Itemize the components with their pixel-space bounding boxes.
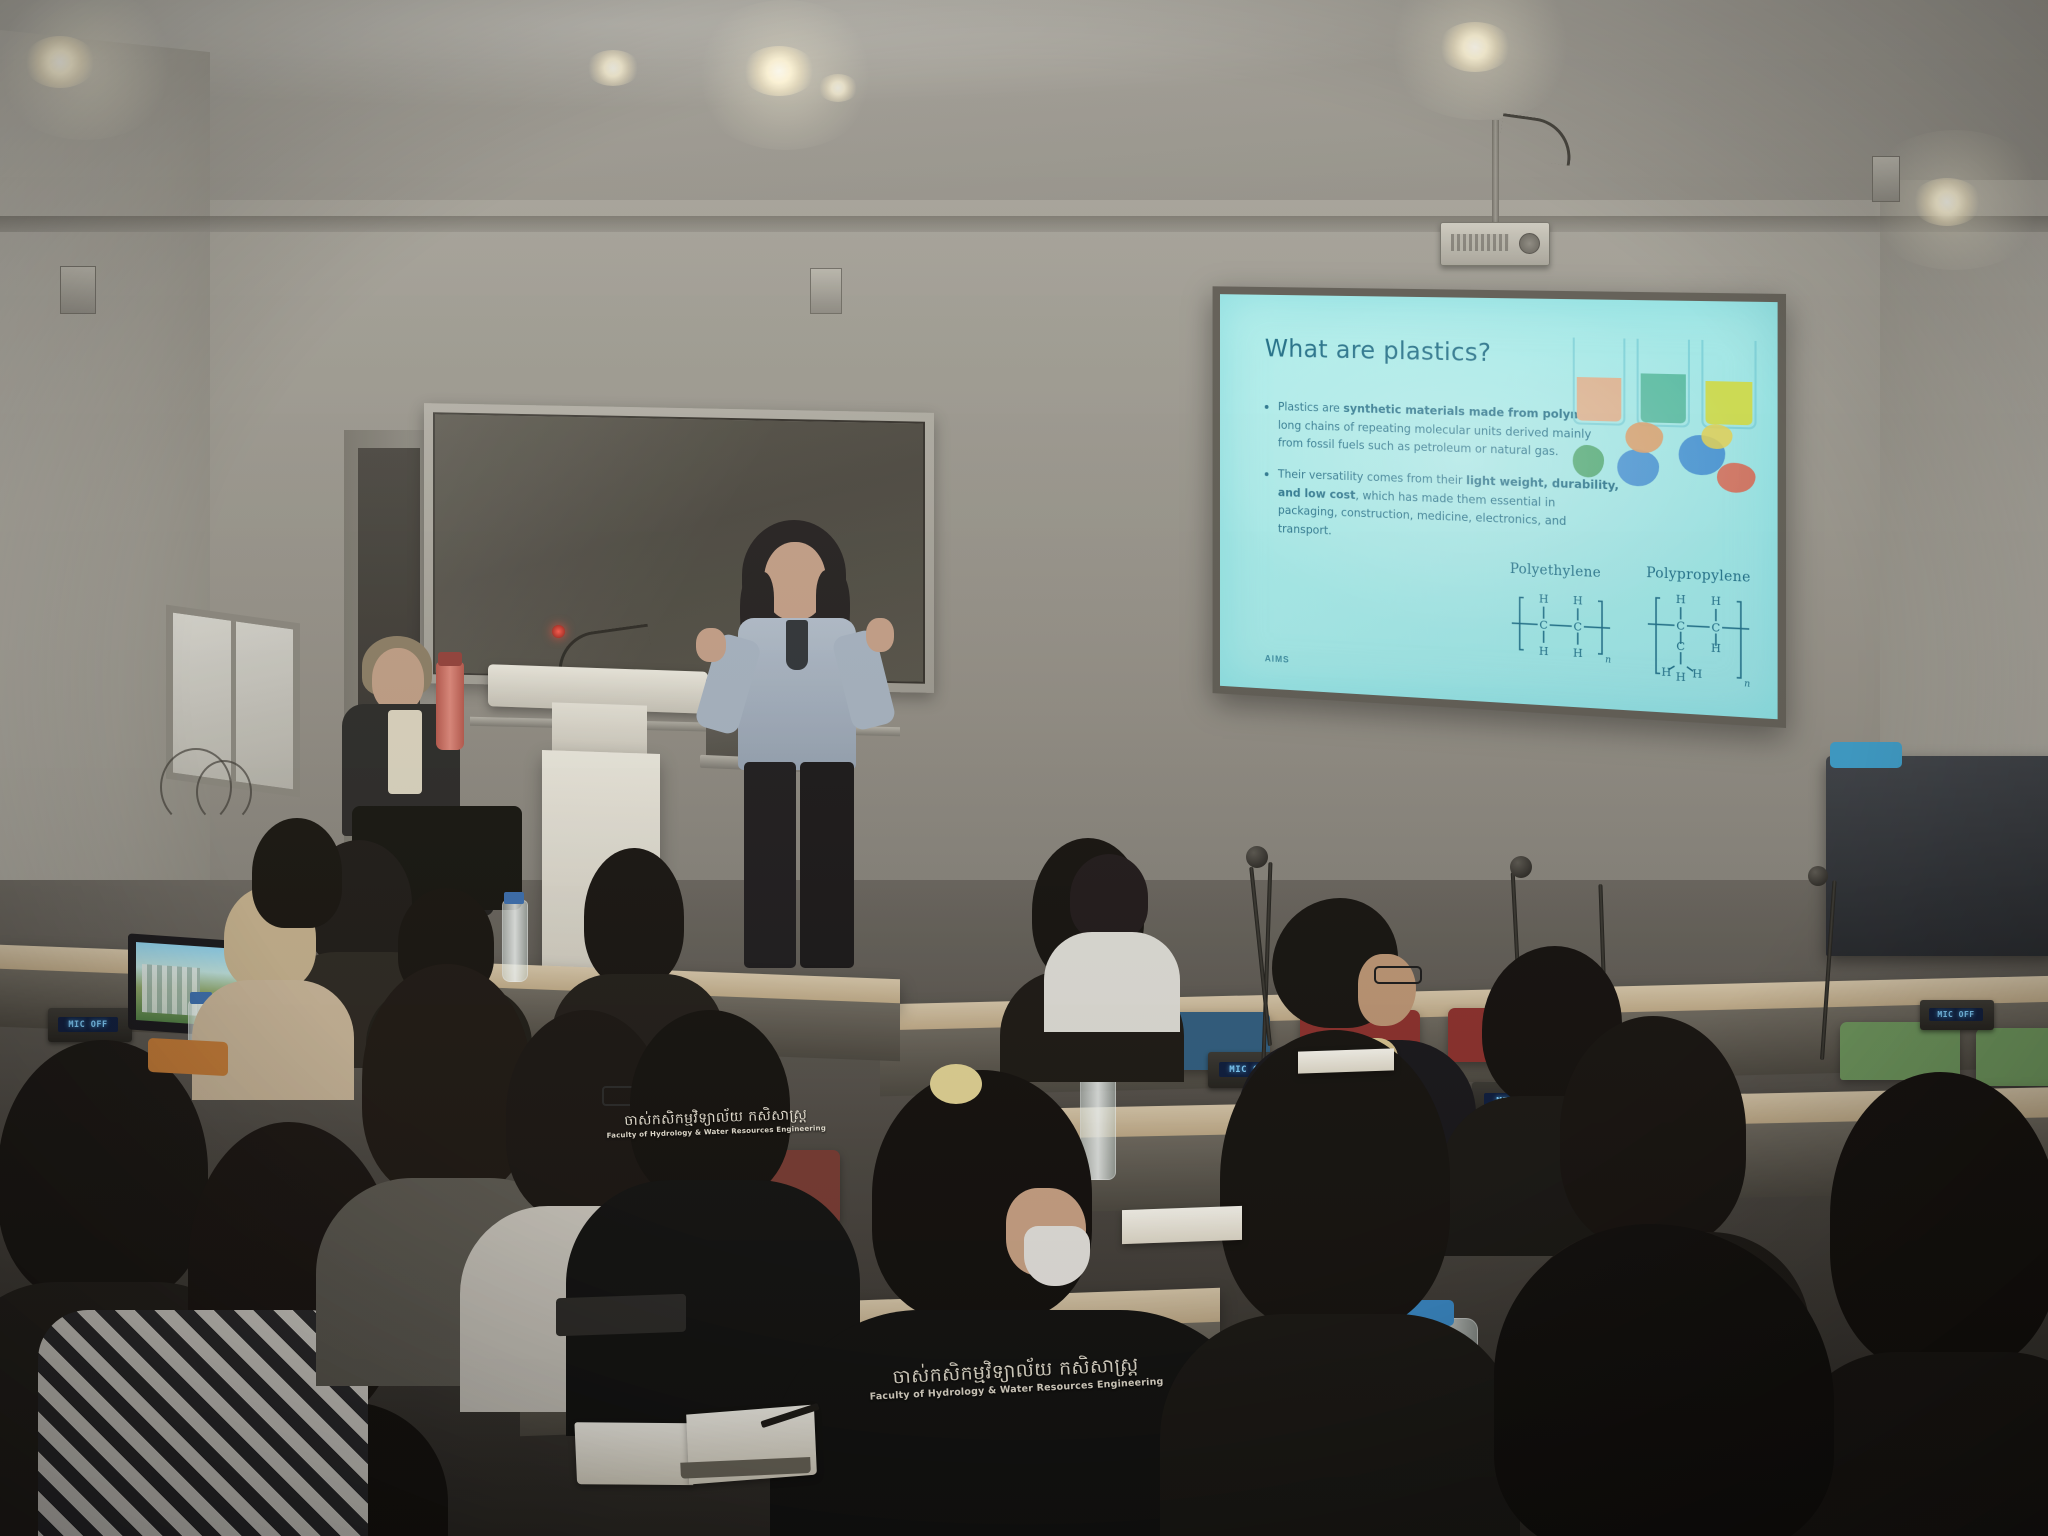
projector-mount-rod xyxy=(1492,120,1499,224)
av-rack-unit xyxy=(1826,756,2048,956)
slide-bullet-list: Plastics are synthetic materials made fr… xyxy=(1265,397,1620,565)
student-face xyxy=(1358,954,1416,1026)
projector-lens-icon xyxy=(1519,233,1540,254)
svg-text:H: H xyxy=(1693,667,1703,681)
presenter-leg-left xyxy=(744,762,796,968)
chem-structure: HH CC CH HHH n xyxy=(1646,587,1754,693)
presenter-hand-left xyxy=(696,628,726,662)
svg-text:H: H xyxy=(1539,644,1549,658)
ceiling-projector xyxy=(1440,222,1550,266)
blue-item-on-rack xyxy=(1830,742,1902,768)
projection-screen: What are plastics? Plastics are syntheti… xyxy=(1213,286,1786,728)
slide-footer-logo: AIMS xyxy=(1265,653,1290,664)
mic-console-display: MIC OFF xyxy=(1929,1008,1983,1021)
lecture-hall-photo: What are plastics? Plastics are syntheti… xyxy=(0,0,2048,1536)
presenter-leg-right xyxy=(800,762,854,968)
guest-head xyxy=(372,648,424,712)
svg-text:H: H xyxy=(1573,646,1583,660)
device-on-desk xyxy=(556,1294,686,1337)
svg-text:H: H xyxy=(1539,592,1549,606)
svg-text:C: C xyxy=(1574,620,1582,634)
svg-text:H: H xyxy=(1676,592,1686,606)
polymer-blob xyxy=(1702,423,1733,449)
svg-text:H: H xyxy=(1711,594,1721,608)
guest-blouse xyxy=(388,710,422,794)
svg-text:C: C xyxy=(1540,618,1548,632)
wall-speaker-left xyxy=(60,266,96,314)
svg-text:n: n xyxy=(1745,679,1751,690)
student-front-right-2 xyxy=(1474,1224,1874,1536)
mic-console[interactable]: MIC OFF xyxy=(48,1008,132,1042)
presenter-hand-right xyxy=(866,618,894,652)
ceiling-light-6 xyxy=(818,74,858,102)
student-back-6 xyxy=(1040,850,1170,1030)
bottle-cap xyxy=(438,652,462,666)
presentation-slide: What are plastics? Plastics are syntheti… xyxy=(1220,294,1778,719)
pink-water-bottle xyxy=(436,662,464,750)
ceiling-light-3 xyxy=(1438,22,1512,72)
glasses-icon xyxy=(1374,966,1422,984)
chem-name: Polypropylene xyxy=(1646,565,1754,586)
chem-polyethylene: Polyethylene HH CC HH xyxy=(1510,560,1614,668)
ceiling-light-5 xyxy=(586,50,640,86)
mic-console-display: MIC OFF xyxy=(58,1017,118,1032)
paper-sheet xyxy=(1298,1048,1394,1073)
ceiling-light-4 xyxy=(1912,178,1982,226)
chem-structure: HH CC HH n xyxy=(1510,583,1614,669)
right-wall xyxy=(1880,180,2048,820)
microphone-head xyxy=(1808,866,1828,886)
ceiling-light-2 xyxy=(742,46,816,96)
orange-item xyxy=(148,1038,228,1076)
student-front-right-1 xyxy=(1190,1030,1490,1536)
wall-speaker-center xyxy=(810,268,842,314)
chem-polypropylene: Polypropylene HH CC xyxy=(1646,565,1754,693)
presenter xyxy=(700,520,890,980)
svg-text:C: C xyxy=(1677,639,1686,653)
svg-text:n: n xyxy=(1605,655,1611,666)
slide-artwork xyxy=(1569,324,1760,494)
svg-text:H: H xyxy=(1573,593,1583,607)
svg-text:C: C xyxy=(1712,621,1721,635)
mic-console[interactable]: MIC OFF xyxy=(1920,1000,1994,1030)
wall-speaker-right xyxy=(1872,156,1900,202)
ceiling-light-1 xyxy=(24,36,96,88)
hair-tie xyxy=(930,1064,982,1104)
podium-neck xyxy=(552,702,647,757)
svg-text:H: H xyxy=(1676,670,1686,684)
projector-vent xyxy=(1451,234,1509,251)
chem-name: Polyethylene xyxy=(1510,560,1614,581)
wall-cable xyxy=(196,760,252,824)
polymer-blob xyxy=(1717,462,1756,493)
slide-title: What are plastics? xyxy=(1265,334,1492,367)
polymer-blob xyxy=(1625,421,1663,453)
svg-text:H: H xyxy=(1711,641,1721,655)
microphone-head xyxy=(1510,856,1532,878)
notebook-page-left xyxy=(574,1422,693,1485)
ceiling-beam xyxy=(0,216,2048,232)
presenter-scarf xyxy=(786,620,808,670)
mic-status-led xyxy=(552,625,565,638)
polymer-blob xyxy=(1572,444,1604,478)
left-wall xyxy=(0,30,210,1012)
microphone-head xyxy=(1246,846,1268,868)
polymer-blob xyxy=(1618,449,1660,487)
svg-text:C: C xyxy=(1677,619,1686,633)
paper-sheet xyxy=(1122,1206,1242,1244)
svg-text:H: H xyxy=(1662,665,1672,679)
